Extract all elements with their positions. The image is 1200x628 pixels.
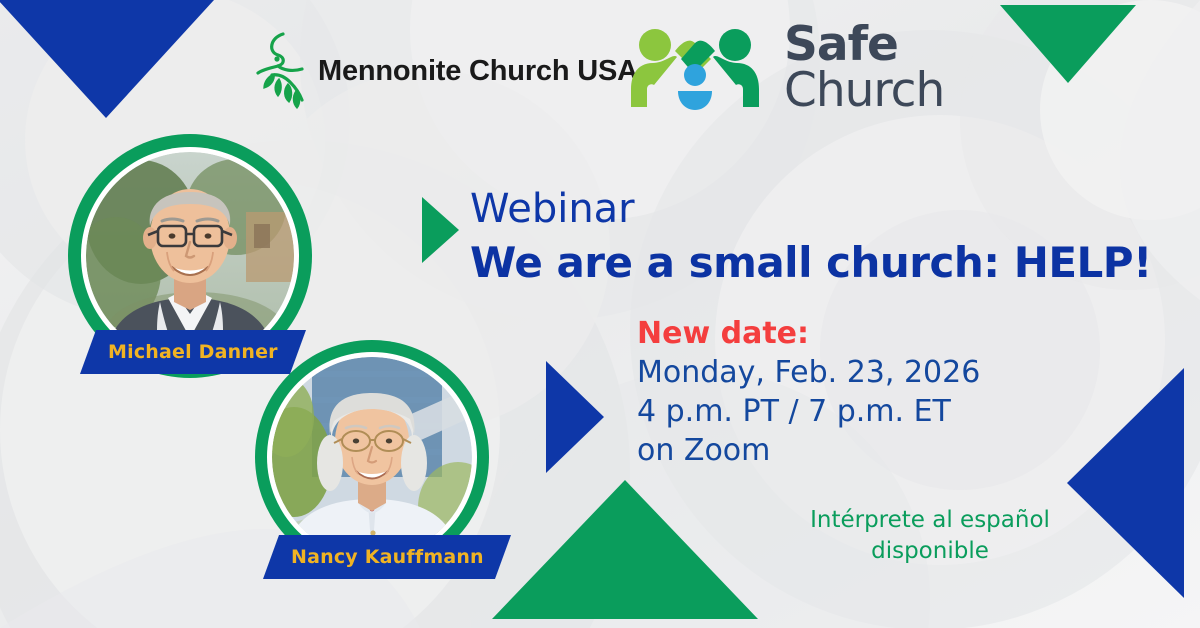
bottom-green-triangle-icon [492,480,758,619]
right-blue-triangle-icon [1067,368,1184,598]
logo-row: Mennonite Church USA Safe Church [0,0,1200,130]
speaker-photo-white-ring [267,352,477,562]
webinar-green-arrow-icon [422,197,459,263]
two-figures-sheltering-child-icon [625,23,770,113]
interpreter-note: Intérprete al español disponible [800,505,1060,567]
promo-graphic-canvas: Mennonite Church USA Safe Church [0,0,1200,628]
speaker-name-label: Michael Danner [108,341,278,363]
safe-church-line1: Safe [784,22,944,68]
michael-danner-portrait [86,152,294,360]
date-line-2: 4 p.m. PT / 7 p.m. ET [637,392,980,431]
speaker-name-tag-nancy-kauffmann: Nancy Kauffmann [263,535,511,579]
mennonite-logo-text: Mennonite Church USA [318,55,638,88]
date-line-1: Monday, Feb. 23, 2026 [637,353,980,392]
dove-olive-branch-icon [252,28,312,114]
date-line-3: on Zoom [637,431,980,470]
speaker-card-nancy-kauffmann: Nancy Kauffmann [255,340,489,574]
new-date-label: New date: [637,315,980,353]
mennonite-church-usa-logo: Mennonite Church USA [252,28,638,114]
avatar [86,152,294,360]
date-blue-arrow-icon [546,361,604,473]
speaker-name-label: Nancy Kauffmann [291,546,484,568]
page-title: We are a small church: HELP! [470,238,1152,287]
webinar-eyebrow: Webinar [470,186,635,232]
safe-church-line2: Church [784,68,944,114]
safe-church-logo: Safe Church [625,22,944,114]
avatar [272,357,472,557]
date-block: New date: Monday, Feb. 23, 2026 4 p.m. P… [637,315,980,470]
safe-church-logo-text: Safe Church [784,22,944,114]
nancy-kauffmann-portrait [272,357,472,557]
